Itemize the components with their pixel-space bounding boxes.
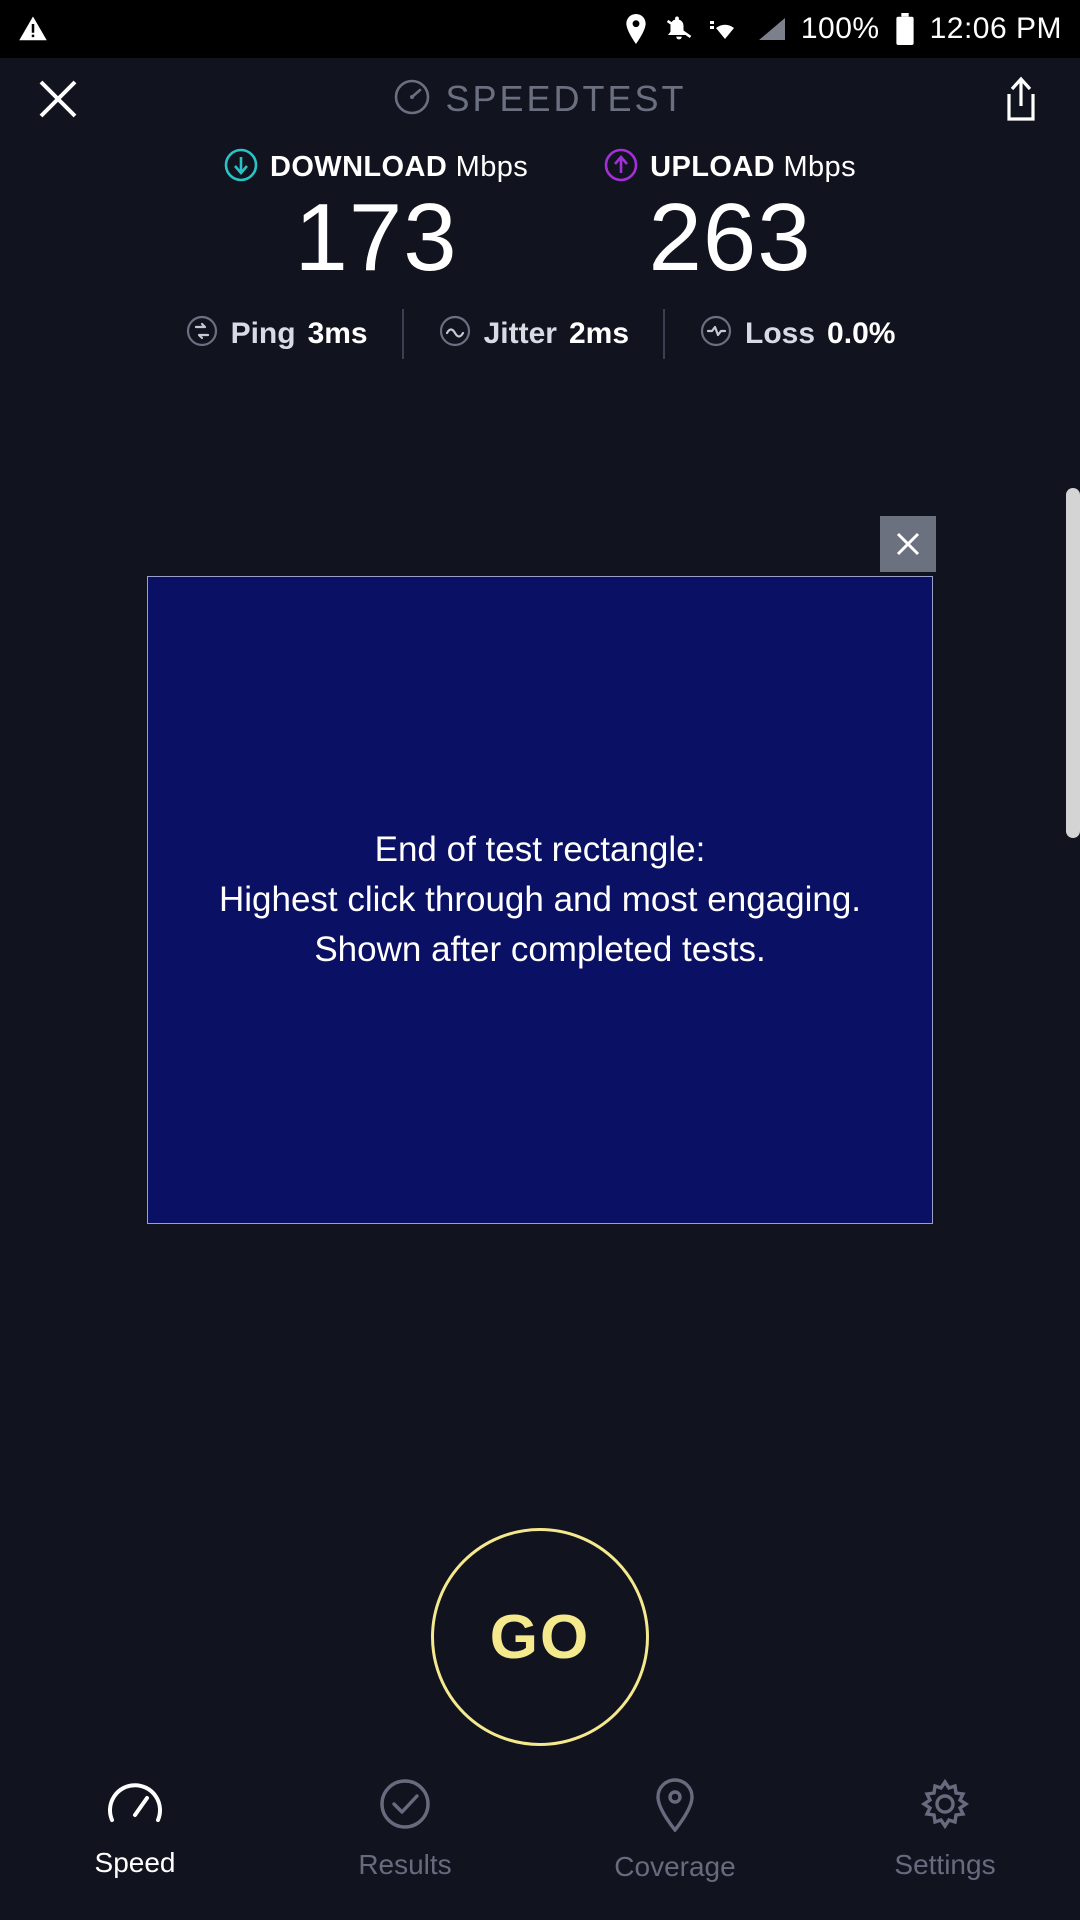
speedometer-icon (107, 1778, 163, 1833)
download-metric-head: DOWNLOAD Mbps (224, 148, 528, 187)
bottom-navigation: Speed Results Coverage (0, 1760, 1080, 1920)
map-pin-icon (653, 1778, 697, 1837)
advertisement-text: End of test rectangle: Highest click thr… (219, 825, 861, 974)
go-button[interactable]: GO (431, 1528, 649, 1746)
check-circle-icon (379, 1778, 431, 1835)
brand-title: SPEEDTEST (445, 78, 686, 120)
ad-close-x-icon[interactable] (880, 516, 936, 572)
speed-metrics-row: DOWNLOAD Mbps 173 UPLOAD Mbps 263 (0, 148, 1080, 287)
battery-full-icon (894, 13, 916, 45)
jitter-stat: Jitter 2ms (404, 314, 663, 353)
loss-stat: Loss 0.0% (665, 314, 929, 353)
close-button[interactable] (30, 71, 86, 127)
go-button-label: GO (490, 1602, 590, 1673)
app-header: SPEEDTEST (0, 58, 1080, 140)
brand: SPEEDTEST (393, 78, 686, 121)
go-button-wrapper: GO (431, 1528, 649, 1746)
nav-item-coverage[interactable]: Coverage (540, 1778, 810, 1883)
speedtest-app-screen: 100% 12:06 PM SPEEDTEST (0, 0, 1080, 1920)
download-label: DOWNLOAD Mbps (270, 151, 528, 184)
upload-arrow-icon (604, 148, 638, 187)
status-bar-clock: 12:06 PM (930, 12, 1062, 46)
nav-item-speed[interactable]: Speed (0, 1778, 270, 1879)
jitter-label: Jitter (484, 317, 557, 351)
ping-label: Ping (231, 317, 296, 351)
loss-icon (699, 314, 733, 353)
upload-metric-head: UPLOAD Mbps (604, 148, 856, 187)
nav-label-results: Results (358, 1849, 451, 1881)
upload-label: UPLOAD Mbps (650, 151, 856, 184)
battery-percent-label: 100% (801, 12, 880, 46)
download-metric: DOWNLOAD Mbps 173 (224, 148, 528, 287)
scrollbar-thumb[interactable] (1066, 488, 1080, 838)
ping-icon (185, 314, 219, 353)
ad-line-1: End of test rectangle: (219, 825, 861, 875)
warning-triangle-icon (18, 14, 48, 44)
ad-line-3: Shown after completed tests. (219, 925, 861, 975)
status-bar: 100% 12:06 PM (0, 0, 1080, 58)
loss-label: Loss (745, 317, 815, 351)
status-bar-left (18, 14, 48, 44)
jitter-value: 2ms (569, 317, 629, 351)
nav-label-coverage: Coverage (614, 1851, 735, 1883)
upload-metric: UPLOAD Mbps 263 (604, 148, 856, 287)
share-button[interactable] (994, 71, 1048, 127)
ping-value: 3ms (308, 317, 368, 351)
ad-line-2: Highest click through and most engaging. (219, 875, 861, 925)
loss-value: 0.0% (827, 317, 895, 351)
nav-item-results[interactable]: Results (270, 1778, 540, 1881)
gear-icon (919, 1778, 971, 1835)
nav-item-settings[interactable]: Settings (810, 1778, 1080, 1881)
advertisement-container: End of test rectangle: Highest click thr… (0, 560, 1080, 1224)
download-arrow-icon (224, 148, 258, 187)
upload-value: 263 (648, 189, 811, 287)
speedometer-icon (393, 78, 431, 121)
nav-label-speed: Speed (95, 1847, 176, 1879)
results-panel: DOWNLOAD Mbps 173 UPLOAD Mbps 263 (0, 140, 1080, 359)
bell-muted-icon (663, 14, 695, 44)
status-bar-right: 100% 12:06 PM (623, 12, 1062, 46)
location-pin-icon (623, 14, 649, 44)
ping-stat: Ping 3ms (151, 314, 402, 353)
advertisement-banner[interactable]: End of test rectangle: Highest click thr… (147, 576, 933, 1224)
nav-label-settings: Settings (894, 1849, 995, 1881)
jitter-icon (438, 314, 472, 353)
download-value: 173 (294, 189, 457, 287)
cellular-signal-icon (755, 15, 787, 43)
network-stats-row: Ping 3ms Jitter 2ms Loss 0.0% (0, 309, 1080, 359)
wifi-icon (709, 15, 741, 43)
